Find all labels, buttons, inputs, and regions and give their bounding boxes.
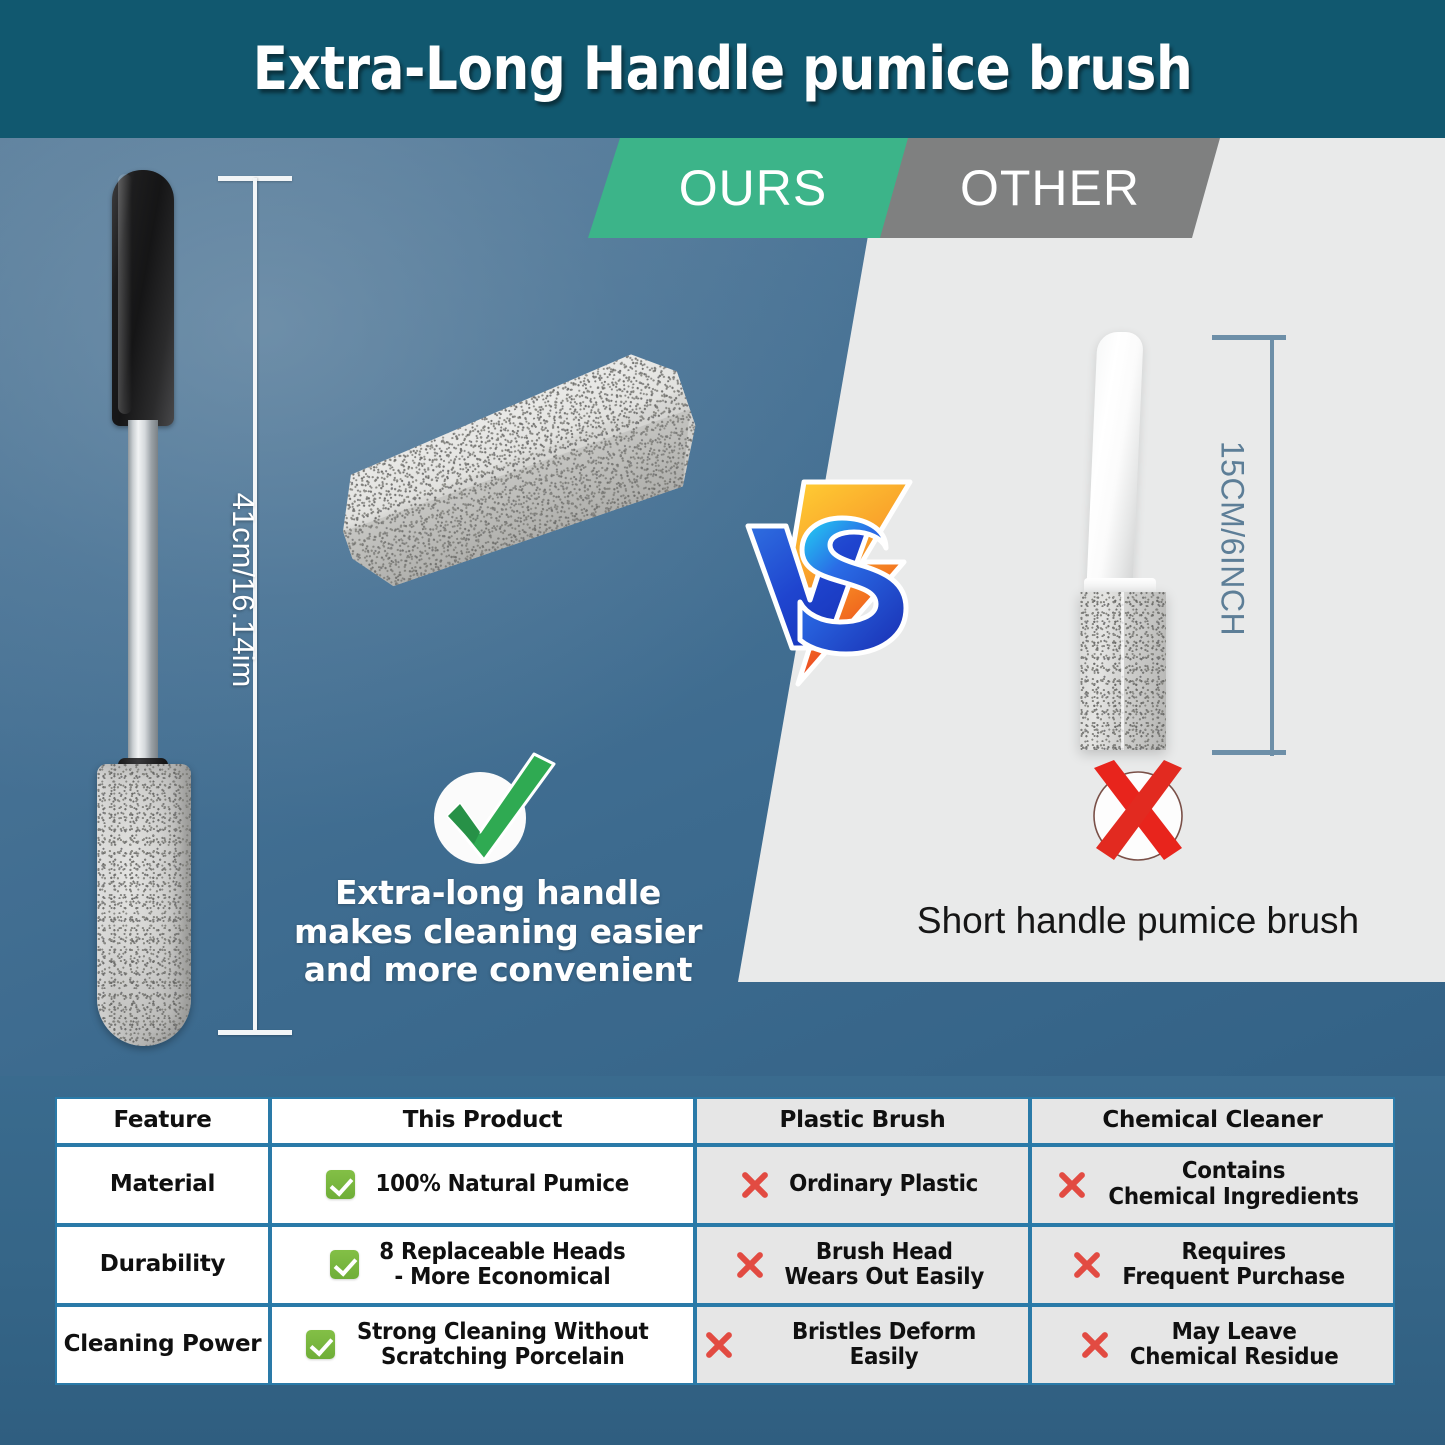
- brush-pumice-head: [97, 764, 191, 1046]
- cell-chemical-cleaner-material: Contains Chemical Ingredients: [1030, 1145, 1395, 1225]
- short-brush-pumice-block: [1080, 592, 1166, 750]
- banner-segment-ours: OURS: [588, 138, 918, 238]
- left-caption-text: Extra-long handle makes cleaning easier …: [278, 874, 718, 990]
- cell-text: Ordinary Plastic: [790, 1172, 979, 1197]
- green-check-circle-icon: [418, 752, 568, 872]
- cell-text: Bristles Deform Easily: [756, 1320, 1013, 1371]
- comparison-banner: OURS OTHER: [0, 138, 1445, 238]
- cell-text: 8 Replaceable Heads - More Economical: [379, 1240, 625, 1291]
- table-header-this-product: This Product: [270, 1097, 695, 1145]
- x-icon: [703, 1329, 735, 1361]
- cell-feature-cleaning-power: Cleaning Power: [55, 1305, 270, 1385]
- cell-text: Brush Head Wears Out Easily: [784, 1240, 984, 1291]
- short-handle-pumice-brush-image: [1070, 332, 1190, 752]
- check-icon: [330, 1250, 359, 1279]
- cell-text: Strong Cleaning Without Scratching Porce…: [357, 1320, 648, 1371]
- x-icon: [1056, 1169, 1088, 1201]
- table-row: Cleaning Power Strong Cleaning Without S…: [55, 1305, 1395, 1385]
- cell-chemical-cleaner-durability: Requires Frequent Purchase: [1030, 1225, 1395, 1305]
- left-dimension-label: 41cm/16.14im: [225, 410, 261, 770]
- cell-text: May Leave Chemical Residue: [1130, 1320, 1339, 1371]
- cell-plastic-brush-cleaning-power: Bristles Deform Easily: [695, 1305, 1030, 1385]
- check-icon: [326, 1170, 355, 1199]
- brush-steel-shaft: [128, 420, 158, 765]
- table-row: Material 100% Natural Pumice Ordinary Pl…: [55, 1145, 1395, 1225]
- right-dimension-line: 15CM/6INCH: [1212, 330, 1292, 760]
- table-header-chemical-cleaner: Chemical Cleaner: [1030, 1097, 1395, 1145]
- x-icon: [1079, 1329, 1111, 1361]
- table-header-plastic-brush: Plastic Brush: [695, 1097, 1030, 1145]
- long-handle-pumice-brush-image: [80, 170, 210, 1050]
- comparison-table: Feature This Product Plastic Brush Chemi…: [55, 1097, 1395, 1385]
- right-caption-text: Short handle pumice brush: [828, 900, 1445, 942]
- infographic-page: Extra-Long Handle pumice brush OURS OTHE…: [0, 0, 1445, 1445]
- table-header-row: Feature This Product Plastic Brush Chemi…: [55, 1097, 1395, 1145]
- cell-text: Requires Frequent Purchase: [1123, 1240, 1346, 1291]
- cell-plastic-brush-durability: Brush Head Wears Out Easily: [695, 1225, 1030, 1305]
- table-header-feature: Feature: [55, 1097, 270, 1145]
- vs-logo: [742, 462, 922, 700]
- right-dimension-label: 15CM/6INCH: [1214, 389, 1251, 689]
- check-icon: [306, 1330, 335, 1359]
- pumice-texture: [97, 764, 191, 1046]
- table-row: Durability 8 Replaceable Heads - More Ec…: [55, 1225, 1395, 1305]
- red-x-circle-icon: [1078, 756, 1198, 874]
- dimension-cap-top: [1212, 335, 1286, 340]
- dimension-cap-bottom: [1212, 750, 1286, 755]
- cell-feature-material: Material: [55, 1145, 270, 1225]
- x-icon: [734, 1249, 766, 1281]
- short-brush-plastic-handle: [1086, 332, 1143, 592]
- cell-text: Contains Chemical Ingredients: [1109, 1159, 1359, 1210]
- banner-other-label: OTHER: [960, 159, 1140, 217]
- x-icon: [1071, 1249, 1103, 1281]
- cell-this-product-cleaning-power: Strong Cleaning Without Scratching Porce…: [270, 1305, 695, 1385]
- cell-chemical-cleaner-cleaning-power: May Leave Chemical Residue: [1030, 1305, 1395, 1385]
- x-icon: [739, 1169, 771, 1201]
- cell-this-product-durability: 8 Replaceable Heads - More Economical: [270, 1225, 695, 1305]
- dimension-vertical-line: [1270, 336, 1274, 756]
- dimension-cap-bottom: [218, 1030, 292, 1035]
- banner-ours-label: OURS: [679, 159, 827, 217]
- page-title: Extra-Long Handle pumice brush: [101, 34, 1344, 104]
- cell-text: 100% Natural Pumice: [376, 1172, 629, 1197]
- pumice-texture: [1080, 592, 1166, 750]
- cell-this-product-material: 100% Natural Pumice: [270, 1145, 695, 1225]
- cell-plastic-brush-material: Ordinary Plastic: [695, 1145, 1030, 1225]
- banner-segment-other: OTHER: [880, 138, 1220, 238]
- cell-feature-durability: Durability: [55, 1225, 270, 1305]
